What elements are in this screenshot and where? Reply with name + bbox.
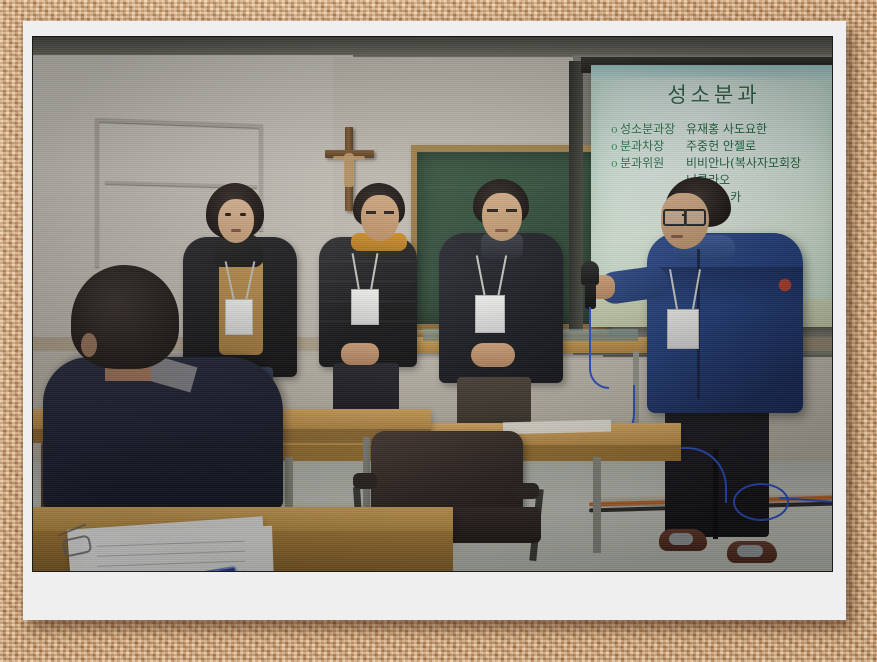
crucifix-corpus-arms	[333, 156, 365, 160]
person-two-brow-right	[384, 211, 394, 214]
screen-side-valance	[569, 61, 583, 331]
slide-role-label: 분과위원	[620, 155, 686, 172]
microphone-handle	[585, 283, 596, 309]
person-woman-eye-right	[240, 213, 246, 216]
slide-title: 성소분과	[591, 79, 833, 109]
slide-bullet-icon: o	[611, 155, 620, 172]
speaker-name-badge	[667, 309, 699, 349]
slide-name-value: 비비안나(복사자모회장	[686, 155, 801, 172]
speaker-shoe-right-inner	[737, 545, 763, 557]
photograph: 성소분과 o성소분과장유재홍 사도요한o분과차장주중헌 안젤로o분과위원비비안나…	[32, 36, 833, 572]
microphone-cable-segment	[589, 307, 609, 389]
quilt-seam	[321, 281, 415, 282]
microphone-icon	[581, 261, 599, 285]
person-woman-mouth	[231, 229, 241, 232]
person-three-brow-left	[487, 209, 498, 212]
seated-man-ear	[81, 333, 97, 357]
person-woman-eye-left	[225, 213, 231, 216]
speaker-shoe-left-inner	[669, 533, 693, 545]
slide-role-label: 성소분과장	[620, 121, 686, 138]
person-three-brow-right	[506, 209, 517, 212]
middle-table-leg	[593, 457, 601, 553]
slide-row: o성소분과장유재홍 사도요한	[611, 121, 833, 138]
person-two-clasped-hands	[341, 343, 379, 365]
slide-role-label: 분과차장	[620, 138, 686, 155]
slide-row: o분과위원비비안나(복사자모회장	[611, 155, 833, 172]
person-three-clasped-hands	[471, 343, 515, 367]
person-two-name-badge	[351, 289, 379, 325]
chair-armrest-left	[353, 473, 377, 489]
speaker-mouth	[671, 235, 683, 238]
slide-name-value: 주중헌 안젤로	[686, 138, 756, 155]
foreground-document-sheet	[82, 526, 274, 572]
chair-armrest-right	[513, 483, 539, 499]
person-three-face	[482, 193, 522, 241]
person-three-mouth	[495, 229, 508, 232]
slide-bullet-icon: o	[611, 121, 620, 138]
slide-bullet-icon: o	[611, 138, 620, 155]
metal-rack-post-left	[95, 121, 99, 267]
speaker-jacket-logo	[777, 277, 793, 293]
person-two-brow-left	[366, 211, 376, 214]
quilt-seam	[321, 261, 415, 262]
person-three-name-badge	[475, 295, 505, 333]
person-woman-name-badge	[225, 299, 253, 335]
person-two-face	[361, 195, 399, 241]
glasses-icon-right	[684, 209, 706, 226]
glasses-bridge	[682, 214, 686, 216]
person-woman-face	[218, 199, 254, 243]
slide-name-value: 유재홍 사도요한	[686, 121, 767, 138]
slide-row: o분과차장주중헌 안젤로	[611, 138, 833, 155]
